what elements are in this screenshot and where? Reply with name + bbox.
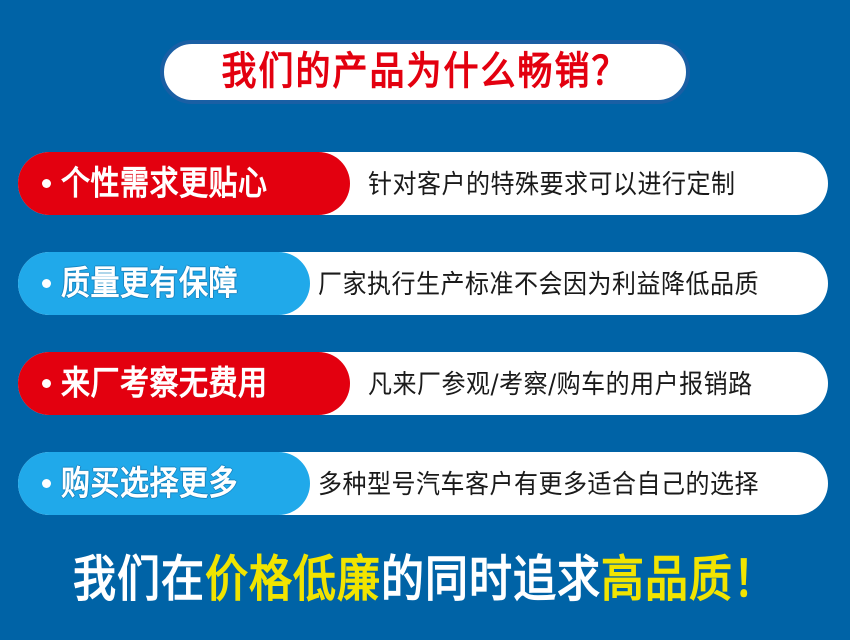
list-item: 个性需求更贴心 针对客户的特殊要求可以进行定制 — [0, 152, 850, 215]
feature-label-pill-4: 购买选择更多 — [18, 452, 310, 515]
feature-description-2: 厂家执行生产标准不会因为利益降低品质 — [318, 249, 759, 318]
feature-description-4: 多种型号汽车客户有更多适合自己的选择 — [318, 449, 759, 518]
feature-label-1: 个性需求更贴心 — [61, 167, 268, 200]
title-section: 我们的产品为什么畅销？ — [0, 40, 850, 104]
title-pill: 我们的产品为什么畅销？ — [160, 40, 690, 104]
promo-poster: 我们的产品为什么畅销？ 个性需求更贴心 针对客户的特殊要求可以进行定制 质量更有… — [0, 0, 850, 640]
feature-label-2: 质量更有保障 — [61, 267, 238, 300]
feature-description-3: 凡来厂参观/考察/购车的用户报销路 — [368, 349, 753, 418]
feature-list: 个性需求更贴心 针对客户的特殊要求可以进行定制 质量更有保障 厂家执行生产标准不… — [0, 152, 850, 552]
dot-bullet-icon — [42, 179, 51, 188]
footer-slogan: 我们在价格低廉的同时追求高品质！ — [73, 555, 777, 604]
list-item: 来厂考察无费用 凡来厂参观/考察/购车的用户报销路 — [0, 352, 850, 415]
feature-label-4: 购买选择更多 — [61, 467, 238, 500]
feature-label-3: 来厂考察无费用 — [61, 367, 268, 400]
dot-bullet-icon — [42, 479, 51, 488]
footer-part-2: 的同时追求 — [381, 551, 601, 609]
list-item: 质量更有保障 厂家执行生产标准不会因为利益降低品质 — [0, 252, 850, 315]
list-item: 购买选择更多 多种型号汽车客户有更多适合自己的选择 — [0, 452, 850, 515]
feature-description-1: 针对客户的特殊要求可以进行定制 — [368, 149, 736, 218]
feature-label-pill-1: 个性需求更贴心 — [18, 152, 350, 215]
page-title: 我们的产品为什么畅销？ — [221, 52, 628, 91]
feature-label-pill-3: 来厂考察无费用 — [18, 352, 350, 415]
footer-section: 我们在价格低廉的同时追求高品质！ — [0, 540, 850, 620]
footer-highlight-1: 价格低廉 — [205, 551, 381, 609]
footer-highlight-2: 高品质！ — [601, 551, 777, 609]
footer-part-1: 我们在 — [73, 551, 205, 609]
dot-bullet-icon — [42, 279, 51, 288]
feature-label-pill-2: 质量更有保障 — [18, 252, 310, 315]
dot-bullet-icon — [42, 379, 51, 388]
